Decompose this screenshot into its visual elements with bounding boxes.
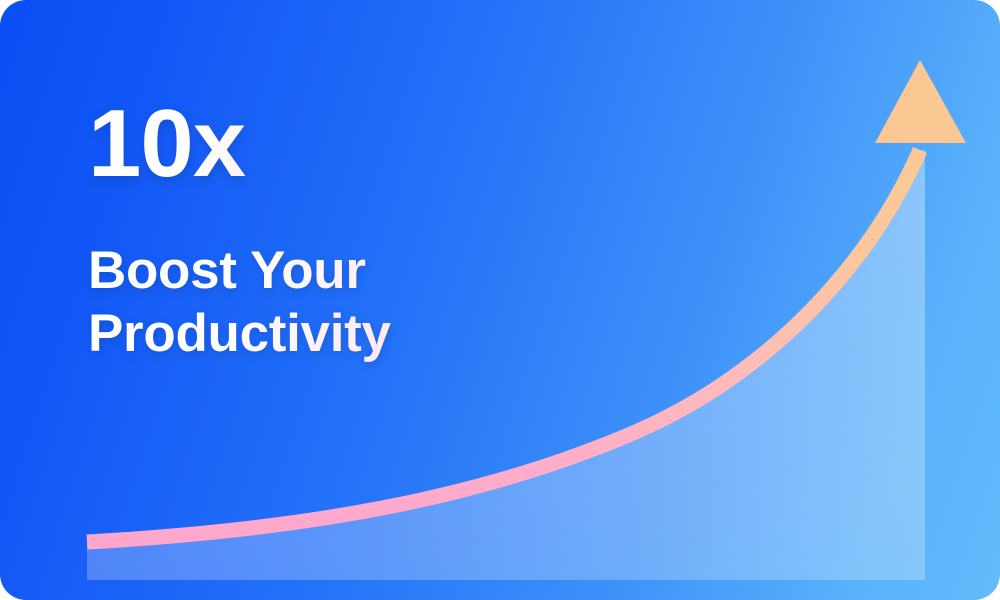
subtitle-line-2: Productivity xyxy=(88,303,608,366)
headline-block: 10x Boost Your Productivity xyxy=(88,96,608,365)
arrowhead-icon xyxy=(875,60,966,143)
subtitle: Boost Your Productivity xyxy=(88,192,608,365)
page-title: 10x xyxy=(88,96,608,192)
subtitle-line-1: Boost Your xyxy=(88,240,608,303)
productivity-growth-banner: 10x Boost Your Productivity xyxy=(0,0,1000,600)
